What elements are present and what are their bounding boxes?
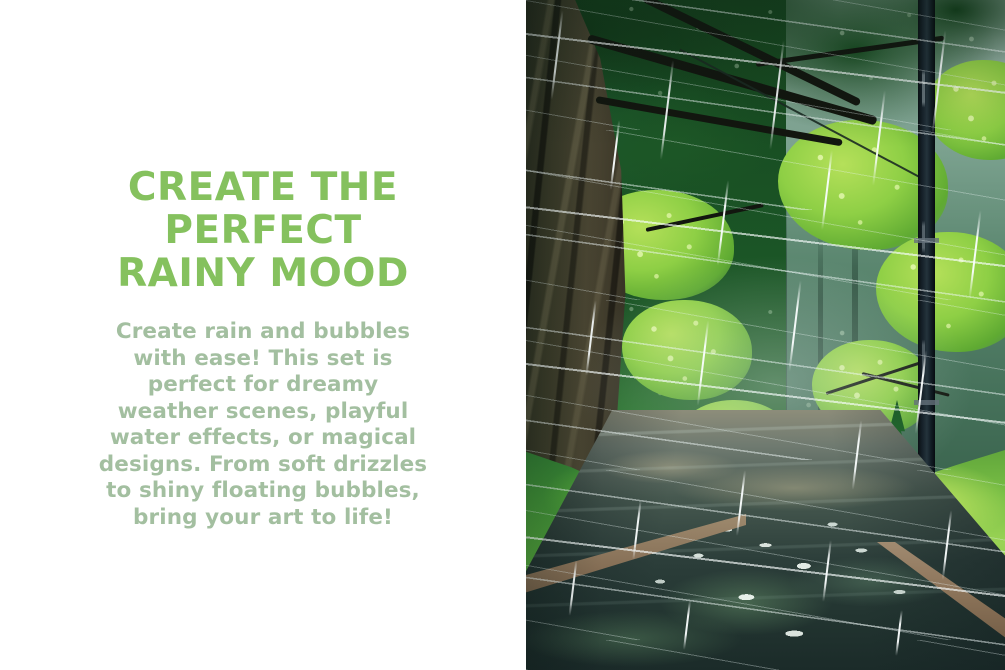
rainy-forest-road-illustration [526, 0, 1005, 670]
body-line-4: weather scenes, playful [83, 399, 443, 426]
text-panel: CREATE THE PERFECT RAINY MOOD Create rai… [0, 0, 526, 670]
body-line-3: perfect for dreamy [83, 372, 443, 399]
poster-canvas: CREATE THE PERFECT RAINY MOOD Create rai… [0, 0, 1005, 670]
road-foam-flecks [526, 410, 1005, 670]
body-line-1: Create rain and bubbles [83, 319, 443, 346]
body-line-5: water effects, or magical [83, 425, 443, 452]
headline-line-3: RAINY MOOD [53, 252, 473, 295]
headline: CREATE THE PERFECT RAINY MOOD [53, 166, 473, 295]
body-copy: Create rain and bubbles with ease! This … [83, 319, 443, 531]
body-line-8: bring your art to life! [83, 505, 443, 532]
headline-line-1: CREATE THE [53, 166, 473, 209]
road [526, 410, 1005, 670]
body-line-7: to shiny floating bubbles, [83, 478, 443, 505]
headline-line-2: PERFECT [53, 209, 473, 252]
body-line-6: designs. From soft drizzles [83, 452, 443, 479]
pole-band [914, 238, 939, 243]
body-line-2: with ease! This set is [83, 346, 443, 373]
